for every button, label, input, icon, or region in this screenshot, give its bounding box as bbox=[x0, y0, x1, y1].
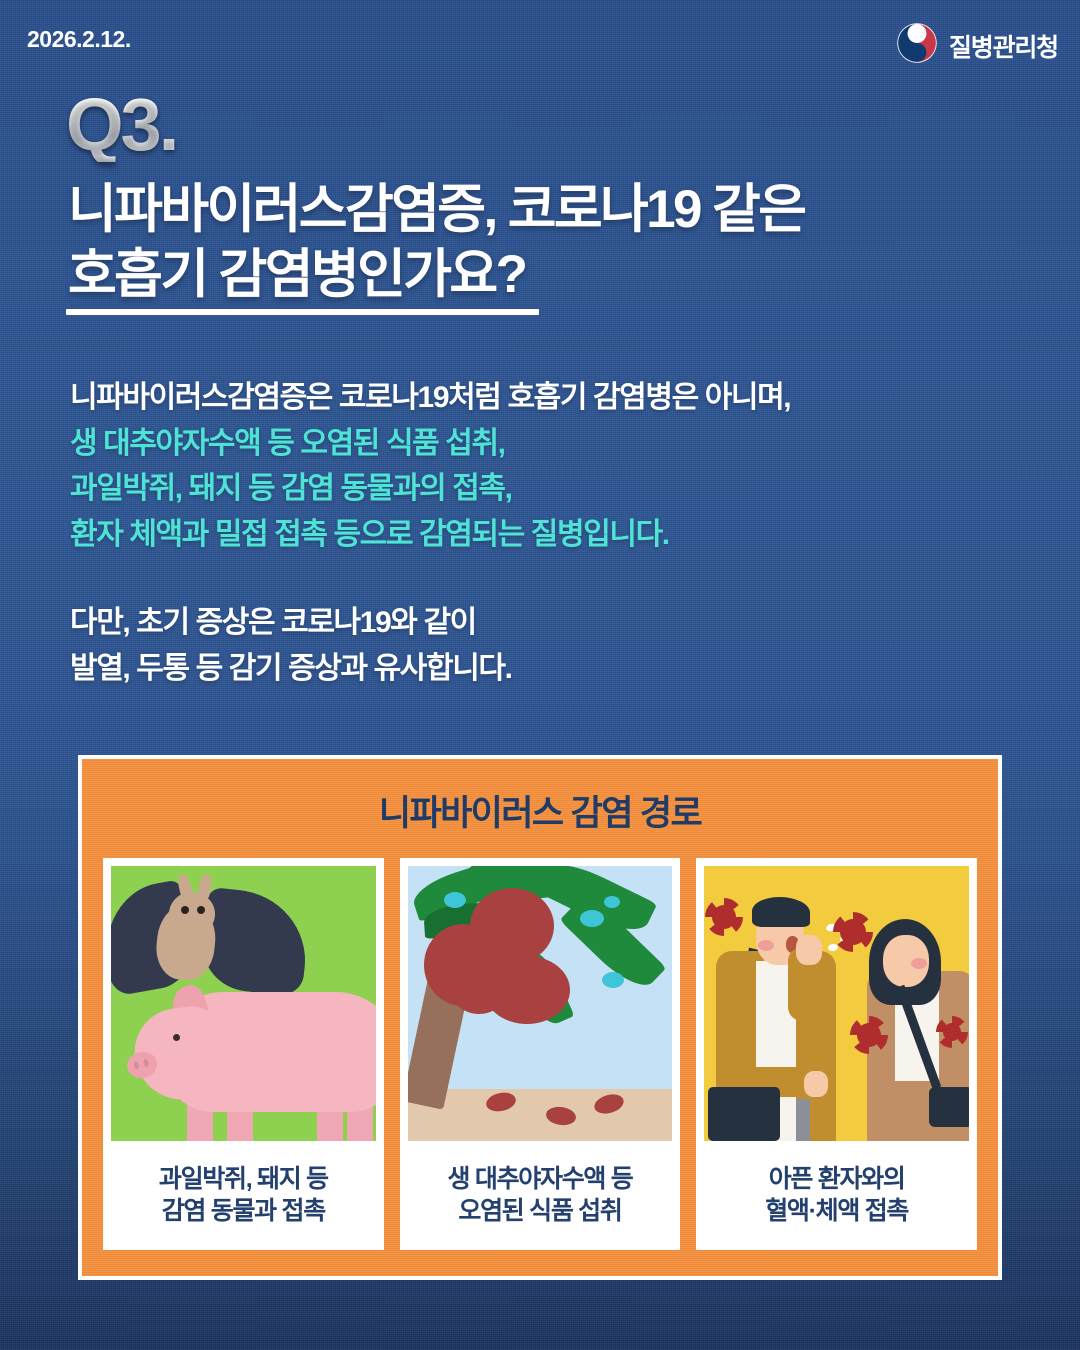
route-card: 과일박쥐, 돼지 등 감염 동물과 접촉 bbox=[103, 858, 384, 1250]
virus-particle-icon bbox=[840, 919, 866, 945]
taegeuk-logo-icon bbox=[896, 22, 938, 69]
man-hand-shape bbox=[796, 935, 822, 965]
palm-coconut-shape bbox=[602, 972, 624, 988]
panel-title: 니파바이러스 감염 경로 bbox=[82, 785, 998, 836]
virus-particle-icon bbox=[857, 1023, 881, 1047]
date-palm-tree-illustration bbox=[408, 866, 673, 1141]
header-bar: 2026.2.12. 질병관리청 bbox=[0, 0, 1080, 90]
answer-line: 생 대추야자수액 등 오염된 식품 섭취, bbox=[70, 421, 1010, 467]
route-card-caption: 과일박쥐, 돼지 등 감염 동물과 접촉 bbox=[159, 1141, 328, 1250]
answer-paragraph-1: 니파바이러스감염증은 코로나19처럼 호흡기 감염병은 아니며, 생 대추야자수… bbox=[70, 375, 1010, 557]
date-cluster-shape bbox=[450, 962, 508, 1014]
route-card: 생 대추야자수액 등 오염된 식품 섭취 bbox=[400, 858, 681, 1250]
answer-line: 환자 체액과 밀접 접촉 등으로 감염되는 질병입니다. bbox=[70, 512, 1010, 558]
answer-paragraph-2: 다만, 초기 증상은 코로나19와 같이 발열, 두통 등 감기 증상과 유사합… bbox=[70, 600, 1010, 691]
coughing-patient-contact-illustration bbox=[704, 866, 969, 1141]
answer-line: 과일박쥐, 돼지 등 감염 동물과의 접촉, bbox=[70, 466, 1010, 512]
route-card: 아픈 환자와의 혈액·체액 접촉 bbox=[696, 858, 977, 1250]
handbag-shape bbox=[929, 1087, 969, 1127]
transmission-routes-panel: 니파바이러스 감염 경로 bbox=[78, 755, 1002, 1280]
pig-eye-shape bbox=[173, 1034, 180, 1041]
palm-coconut-shape bbox=[604, 896, 620, 908]
bat-eye-shape bbox=[181, 906, 189, 914]
title-line-1: 니파바이러스감염증, 코로나19 같은 bbox=[68, 180, 1028, 241]
caption-line: 감염 동물과 접촉 bbox=[162, 1195, 325, 1227]
answer-line: 니파바이러스감염증은 코로나19처럼 호흡기 감염병은 아니며, bbox=[70, 375, 1010, 421]
caption-line: 과일박쥐, 돼지 등 bbox=[159, 1163, 328, 1195]
answer-line: 다만, 초기 증상은 코로나19와 같이 bbox=[70, 600, 1010, 646]
palm-coconut-shape bbox=[580, 910, 604, 927]
caption-line: 아픈 환자와의 bbox=[769, 1163, 905, 1195]
fruit-bat-and-pig-illustration bbox=[111, 866, 376, 1141]
woman-cheek-shape bbox=[911, 958, 927, 969]
caption-line: 생 대추야자수액 등 bbox=[448, 1163, 633, 1195]
sand-ground-shape bbox=[408, 1089, 673, 1141]
question-number: Q3. bbox=[66, 88, 176, 162]
bat-eye-shape bbox=[197, 906, 205, 914]
virus-particle-icon bbox=[712, 905, 736, 929]
page-title: 니파바이러스감염증, 코로나19 같은 호흡기 감염병인가요? bbox=[68, 180, 1028, 306]
publish-date: 2026.2.12. bbox=[27, 26, 131, 53]
palm-coconut-shape bbox=[444, 892, 466, 908]
route-card-list: 과일박쥐, 돼지 등 감염 동물과 접촉 bbox=[103, 858, 977, 1250]
man-hair-shape bbox=[752, 897, 810, 927]
caption-line: 혈액·체액 접촉 bbox=[765, 1195, 908, 1227]
title-line-2: 호흡기 감염병인가요? bbox=[68, 245, 525, 306]
agency-brand: 질병관리청 bbox=[896, 22, 1058, 69]
bat-head-shape bbox=[169, 892, 215, 936]
answer-line: 발열, 두통 등 감기 증상과 유사합니다. bbox=[70, 646, 1010, 692]
date-cluster-shape bbox=[470, 888, 554, 964]
virus-particle-icon bbox=[943, 1023, 961, 1041]
route-card-caption: 아픈 환자와의 혈액·체액 접촉 bbox=[765, 1141, 908, 1250]
agency-name: 질병관리청 bbox=[949, 28, 1058, 64]
briefcase-shape bbox=[708, 1087, 780, 1141]
route-card-caption: 생 대추야자수액 등 오염된 식품 섭취 bbox=[448, 1141, 633, 1250]
man-hand-shape bbox=[804, 1071, 828, 1097]
caption-line: 오염된 식품 섭취 bbox=[458, 1195, 621, 1227]
